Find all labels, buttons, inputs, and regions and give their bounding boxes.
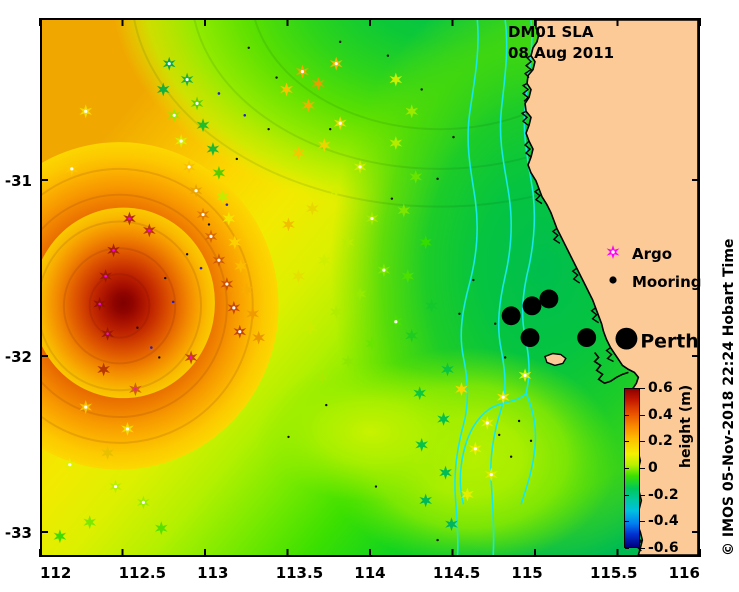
colorbar-tick [625, 468, 629, 469]
y-tick-label: -32 [0, 348, 32, 366]
colorbar-tick [625, 495, 629, 496]
colorbar-axis-label: height (m) [678, 385, 694, 468]
colorbar-tick-label: -0.6 [648, 540, 679, 556]
colorbar-tick-label: -0.2 [648, 487, 679, 503]
legend-label-argo: Argo [632, 245, 672, 263]
argo-marker-icon [600, 243, 626, 265]
title-line-dataset: DM01 SLA [508, 22, 614, 43]
colorbar-tick [640, 441, 645, 442]
colorbar-tick [640, 468, 645, 469]
mooring-marker[interactable] [523, 296, 542, 315]
colorbar-tick-label: 0.2 [648, 433, 673, 449]
colorbar-tick [640, 415, 645, 416]
colorbar-tick [640, 548, 645, 549]
mooring-marker-icon [600, 271, 626, 293]
colorbar-tick-label: 0.6 [648, 380, 673, 396]
colorbar-tick [625, 521, 629, 522]
colorbar-tick-label: 0.4 [648, 407, 673, 423]
legend-item-argo[interactable]: Argo [600, 240, 702, 268]
figure-title: DM01 SLA 08 Aug 2011 [508, 22, 614, 65]
colorbar-tick [625, 388, 629, 389]
mooring-marker[interactable] [502, 306, 521, 325]
title-line-date: 08 Aug 2011 [508, 43, 614, 64]
colorbar-tick-label: -0.4 [648, 513, 679, 529]
colorbar-tick [640, 495, 645, 496]
colorbar-tick [625, 548, 629, 549]
colorbar-tick [625, 415, 629, 416]
colorbar-tick [640, 521, 645, 522]
colorbar-tick-label: 0 [648, 460, 658, 476]
y-tick-label: -31 [0, 172, 32, 190]
map-legend: Argo Mooring [600, 240, 702, 296]
legend-label-mooring: Mooring [632, 273, 702, 291]
mooring-marker[interactable] [577, 328, 596, 347]
legend-item-mooring[interactable]: Mooring [600, 268, 702, 296]
colorbar-tick [640, 388, 645, 389]
mooring-marker[interactable] [539, 289, 558, 308]
colorbar[interactable]: 0.6 0.4 0.2 0 -0.2 -0.4 -0.6 [624, 388, 640, 548]
y-tick-label: -33 [0, 524, 32, 542]
colorbar-tick [625, 441, 629, 442]
figure-root: Perth DM01 SLA 08 Aug 2011 Argo [0, 0, 739, 592]
mooring-marker[interactable] [521, 328, 540, 347]
copyright-notice: © IMOS 05-Nov-2018 22:24 Hobart Time [721, 239, 737, 556]
mooring-marker-perth[interactable] [616, 328, 638, 350]
perth-city-label: Perth [640, 331, 698, 353]
sla-south-shelf-lobe-2 [256, 362, 485, 501]
